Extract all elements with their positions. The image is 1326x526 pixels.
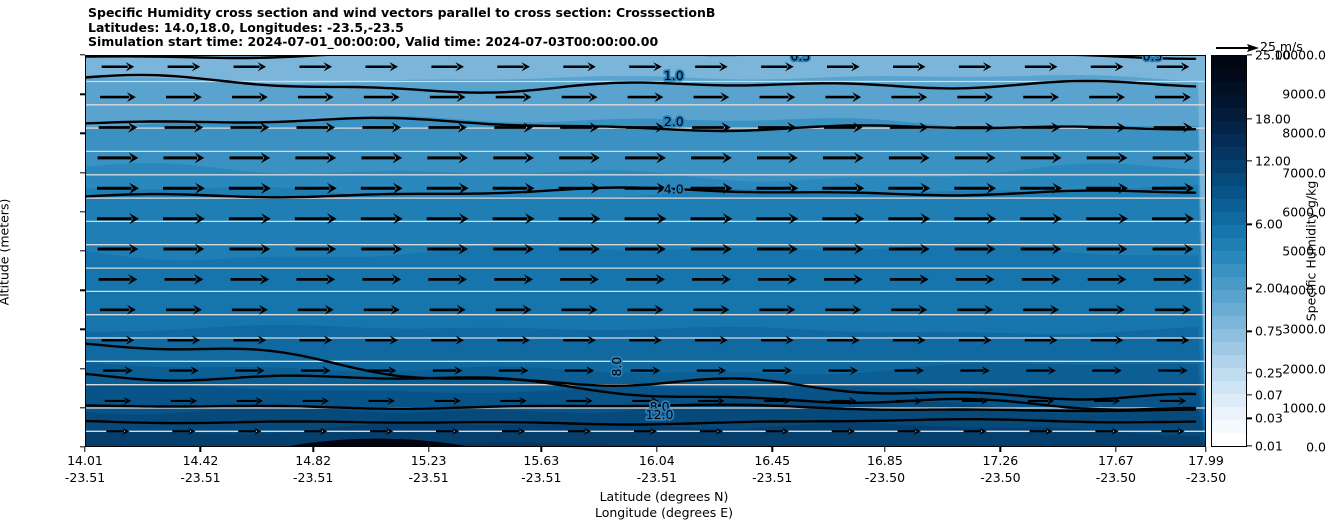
svg-text:2.0: 2.0 [664, 114, 684, 129]
colorbar-tick-mark [1247, 288, 1252, 289]
y-tick-mark [80, 93, 85, 94]
x-tick-label-longitude: -23.51 [521, 470, 561, 485]
svg-text:0.5: 0.5 [790, 55, 810, 64]
colorbar-band [1212, 420, 1246, 433]
colorbar-band [1212, 329, 1246, 342]
y-tick-mark [80, 368, 85, 369]
wind-vector-key: 25 m/s [1216, 39, 1326, 55]
x-tick-mark [1000, 447, 1001, 452]
colorbar-tick-mark [1247, 224, 1252, 225]
colorbar-band [1212, 147, 1246, 160]
y-axis-label: Altitude (meters) [0, 199, 12, 306]
x-tick-label-latitude: 16.85 [867, 453, 903, 468]
x-tick-label-latitude: 17.67 [1098, 453, 1134, 468]
colorbar-band [1212, 407, 1246, 420]
colorbar-tick-label: 6.00 [1255, 217, 1283, 232]
colorbar-band [1212, 433, 1246, 446]
x-tick-label-longitude: -23.51 [65, 470, 105, 485]
colorbar-band [1212, 251, 1246, 264]
x-tick-label-latitude: 14.42 [183, 453, 219, 468]
colorbar-band [1212, 69, 1246, 82]
x-tick-mark [1115, 447, 1116, 452]
y-tick-mark [80, 407, 85, 408]
colorbar-tick-mark [1247, 372, 1252, 373]
colorbar-band [1212, 277, 1246, 290]
y-tick-mark [80, 289, 85, 290]
y-tick-mark [80, 133, 85, 134]
x-tick-mark [772, 447, 773, 452]
x-tick-label-longitude: -23.50 [980, 470, 1020, 485]
colorbar-band [1212, 264, 1246, 277]
colorbar-tick-label: 0.75 [1255, 324, 1283, 339]
colorbar-band [1212, 134, 1246, 147]
y-tick-mark [80, 250, 85, 251]
colorbar-band [1212, 199, 1246, 212]
colorbar-band [1212, 355, 1246, 368]
x-tick-label-latitude: 14.82 [295, 453, 331, 468]
x-tick-label-longitude: -23.51 [637, 470, 677, 485]
colorbar-tick-mark [1247, 118, 1252, 119]
colorbar-band [1212, 186, 1246, 199]
x-tick-mark [428, 447, 429, 452]
x-tick-label-longitude: -23.50 [1096, 470, 1136, 485]
colorbar-tick-label: 0.03 [1255, 411, 1283, 426]
y-tick-mark [80, 54, 85, 55]
svg-text:8.0: 8.0 [609, 357, 624, 377]
svg-text:12.0: 12.0 [646, 407, 674, 422]
y-tick-mark [80, 211, 85, 212]
svg-text:1.0: 1.0 [664, 68, 684, 83]
colorbar-band [1212, 303, 1246, 316]
colorbar-band [1212, 368, 1246, 381]
x-tick-label-latitude: 16.45 [754, 453, 790, 468]
x-axis-label-longitude: Longitude (degrees E) [595, 505, 733, 520]
colorbar-tick-mark [1247, 418, 1252, 419]
x-tick-label-longitude: -23.51 [180, 470, 220, 485]
wind-key-label: 25 m/s [1260, 39, 1303, 54]
x-tick-label-latitude: 15.63 [523, 453, 559, 468]
x-tick-mark [1205, 447, 1206, 452]
colorbar-tick-label: 0.25 [1255, 365, 1283, 380]
colorbar-tick-label: 12.00 [1255, 153, 1291, 168]
colorbar-tick-mark [1247, 160, 1252, 161]
colorbar-tick-label: 0.01 [1255, 438, 1283, 453]
colorbar-band [1212, 316, 1246, 329]
colorbar-label: Specific Humidity g/kg [1304, 181, 1319, 322]
colorbar-band [1212, 56, 1246, 69]
colorbar-band [1212, 225, 1246, 238]
colorbar-band [1212, 381, 1246, 394]
colorbar-band [1212, 212, 1246, 225]
y-tick-mark [80, 329, 85, 330]
colorbar-band [1212, 173, 1246, 186]
title-line-3: Simulation start time: 2024-07-01_00:00:… [88, 35, 1188, 50]
colorbar-tick-mark [1247, 445, 1252, 446]
x-tick-label-longitude: -23.51 [408, 470, 448, 485]
y-tick-label: 8000.0 [1250, 126, 1326, 141]
x-tick-label-longitude: -23.51 [293, 470, 333, 485]
title-line-1: Specific Humidity cross section and wind… [88, 6, 1188, 21]
colorbar-band [1212, 290, 1246, 303]
x-tick-label-latitude: 17.99 [1188, 453, 1224, 468]
x-tick-mark [84, 447, 85, 452]
colorbar-band [1212, 121, 1246, 134]
plot-title-block: Specific Humidity cross section and wind… [88, 6, 1188, 50]
colorbar-band [1212, 394, 1246, 407]
colorbar-tick-label: 18.00 [1255, 111, 1291, 126]
colorbar-band [1212, 82, 1246, 95]
x-tick-label-latitude: 16.04 [639, 453, 675, 468]
x-axis-label-latitude: Latitude (degrees N) [600, 489, 729, 504]
svg-text:0.5: 0.5 [1143, 55, 1163, 64]
svg-text:4.0: 4.0 [664, 182, 684, 197]
x-tick-label-longitude: -23.51 [752, 470, 792, 485]
y-tick-label: 9000.0 [1250, 87, 1326, 102]
y-tick-mark [80, 172, 85, 173]
x-tick-label-latitude: 15.23 [411, 453, 447, 468]
colorbar-band [1212, 238, 1246, 251]
colorbar-tick-label: 0.07 [1255, 387, 1283, 402]
colorbar [1211, 55, 1247, 447]
x-tick-mark [200, 447, 201, 452]
colorbar-tick-mark [1247, 331, 1252, 332]
cross-section-plot: 0.50.51.02.04.08.08.012.0 [85, 55, 1206, 447]
colorbar-band [1212, 95, 1246, 108]
x-tick-label-longitude: -23.50 [1186, 470, 1226, 485]
x-tick-label-latitude: 14.01 [67, 453, 103, 468]
cross-section-canvas: 0.50.51.02.04.08.08.012.0 [85, 55, 1206, 447]
x-tick-mark [656, 447, 657, 452]
title-line-2: Latitudes: 14.0,18.0, Longitudes: -23.5,… [88, 21, 1188, 36]
colorbar-tick-label: 2.00 [1255, 281, 1283, 296]
x-tick-mark [312, 447, 313, 452]
right-arrow-icon [1216, 42, 1260, 54]
x-tick-label-latitude: 17.26 [982, 453, 1018, 468]
colorbar-band [1212, 160, 1246, 173]
x-tick-mark [884, 447, 885, 452]
x-tick-label-longitude: -23.50 [865, 470, 905, 485]
x-tick-mark [541, 447, 542, 452]
colorbar-tick-mark [1247, 394, 1252, 395]
colorbar-band [1212, 342, 1246, 355]
colorbar-band [1212, 108, 1246, 121]
